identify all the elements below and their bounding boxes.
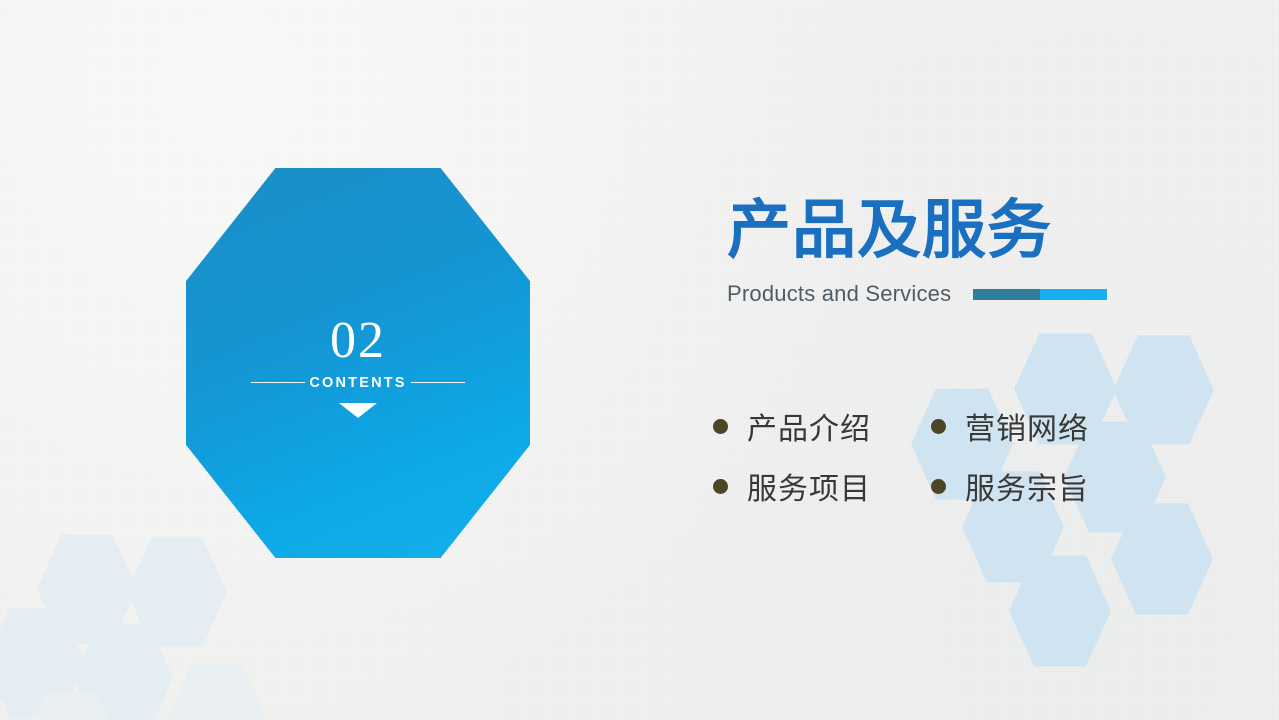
decorative-hexagon bbox=[36, 531, 138, 647]
decorative-hexagon bbox=[72, 620, 174, 720]
accent-bar-left-segment bbox=[973, 289, 1040, 300]
list-item-label: 营销网络 bbox=[965, 404, 1089, 448]
bullet-dot-icon bbox=[931, 479, 946, 494]
list-item-label: 服务宗旨 bbox=[965, 464, 1089, 508]
page-title: 产品及服务 bbox=[727, 198, 1147, 265]
triangle-down-icon bbox=[339, 403, 377, 418]
heading-block: 产品及服务 Products and Services bbox=[727, 198, 1147, 307]
contents-label: CONTENTS bbox=[305, 375, 410, 391]
decorative-hexagon bbox=[166, 660, 268, 720]
list-item[interactable]: 产品介绍 bbox=[713, 396, 931, 456]
agenda-bullet-list: 产品介绍 营销网络 服务项目 服务宗旨 bbox=[713, 396, 1133, 516]
accent-bar-right-segment bbox=[1040, 289, 1107, 300]
accent-bar bbox=[973, 289, 1107, 300]
contents-badge-content: 02 CONTENTS bbox=[186, 168, 530, 558]
decorative-hexagon bbox=[20, 690, 122, 720]
rule-line-right bbox=[411, 382, 465, 383]
list-item[interactable]: 营销网络 bbox=[931, 396, 1131, 456]
decorative-hexagon bbox=[1110, 500, 1214, 618]
rule-line-left bbox=[251, 382, 305, 383]
slide-canvas: 02 CONTENTS 产品及服务 Products and Services … bbox=[0, 0, 1279, 720]
decorative-hexagon bbox=[1008, 552, 1112, 670]
bullet-dot-icon bbox=[931, 419, 946, 434]
bullet-dot-icon bbox=[713, 419, 728, 434]
page-subtitle: Products and Services bbox=[727, 281, 951, 307]
list-item[interactable]: 服务宗旨 bbox=[931, 456, 1131, 516]
list-item[interactable]: 服务项目 bbox=[713, 456, 931, 516]
bullet-dot-icon bbox=[713, 479, 728, 494]
contents-number: 02 bbox=[330, 315, 386, 367]
list-item-label: 产品介绍 bbox=[747, 404, 871, 448]
subtitle-row: Products and Services bbox=[727, 281, 1147, 307]
contents-hexagon-badge[interactable]: 02 CONTENTS bbox=[186, 168, 530, 558]
decorative-hexagon bbox=[0, 605, 86, 720]
contents-label-rule: CONTENTS bbox=[251, 375, 465, 391]
list-item-label: 服务项目 bbox=[747, 464, 871, 508]
